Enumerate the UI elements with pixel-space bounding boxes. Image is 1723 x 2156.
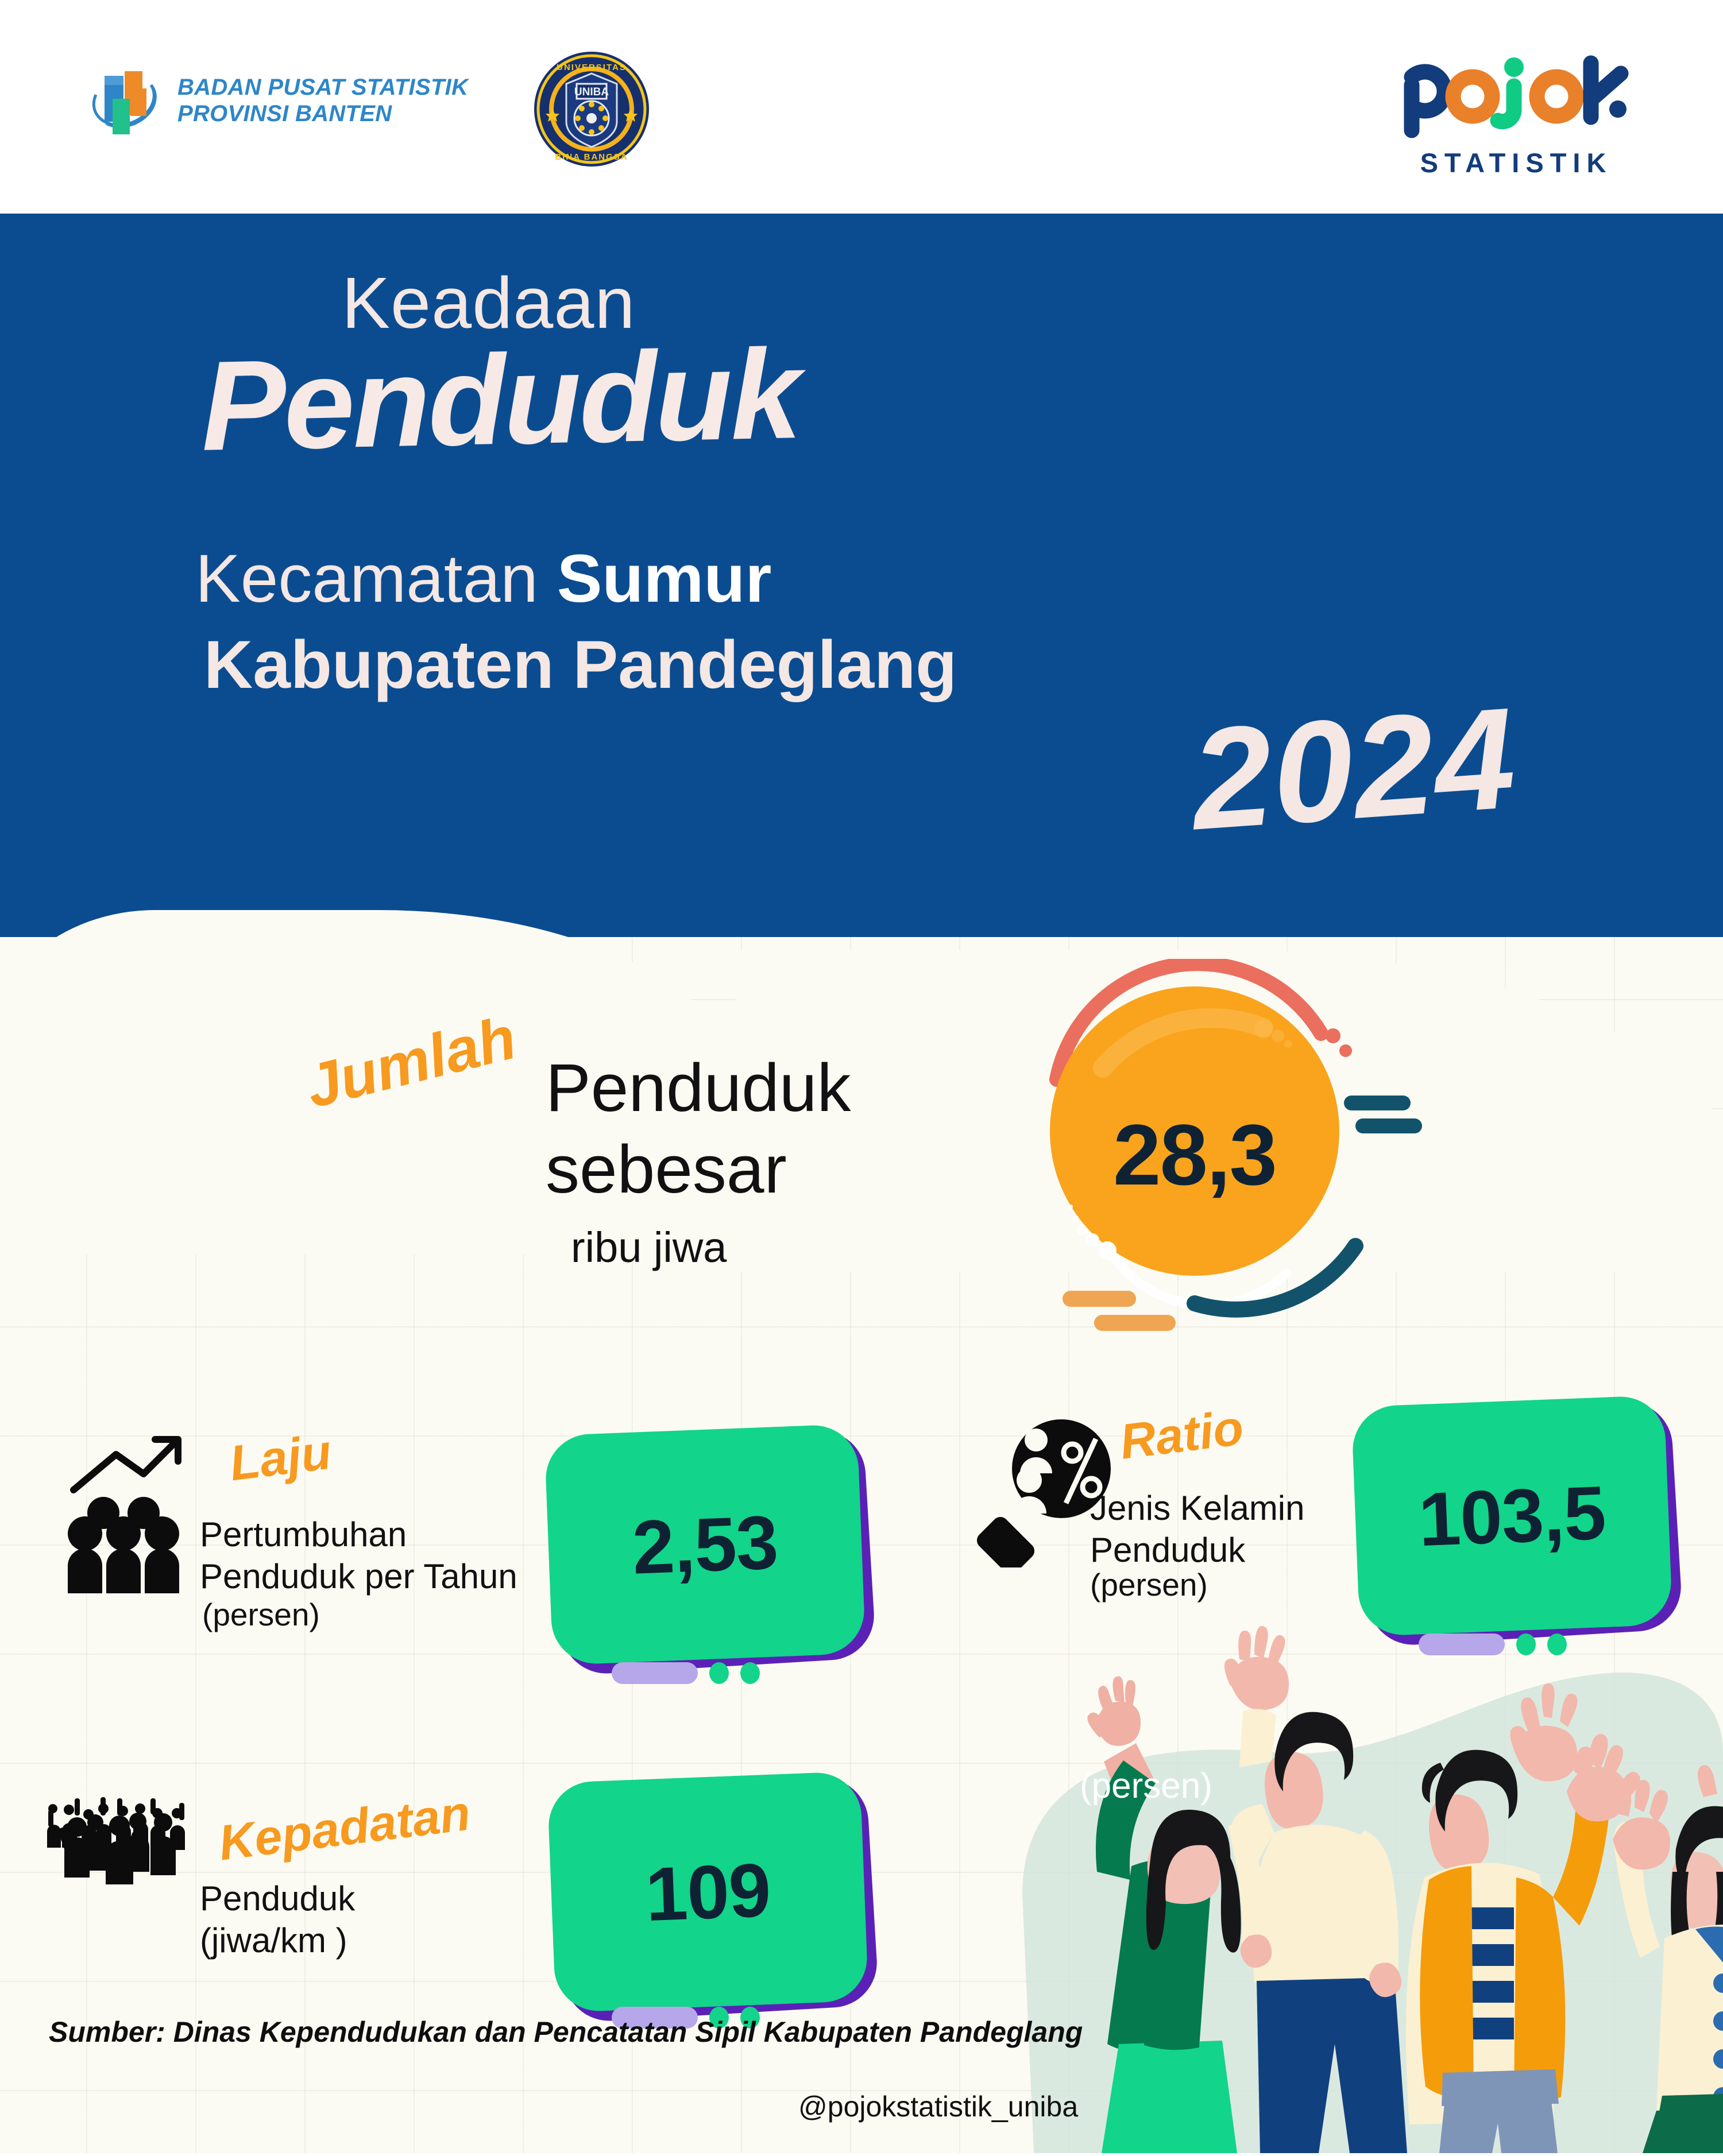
stat-ratio-desc-line2: Penduduk: [1090, 1529, 1305, 1571]
ratio-unit-overlay: (persen): [1080, 1766, 1212, 1806]
pojok-sub-wordmark: STATISTIK: [1401, 147, 1631, 179]
stat-laju-desc: Pertumbuhan Penduduk per Tahun: [200, 1514, 517, 1597]
stat-laju-desc-line2: Penduduk per Tahun: [200, 1555, 517, 1597]
crowd-icon: [36, 1797, 214, 1926]
bps-mark-icon: [89, 63, 163, 138]
bps-logo-text: BADAN PUSAT STATISTIK PROVINSI BANTEN: [177, 74, 468, 127]
uniba-seal-icon: UNIBA UNIVERSITAS BINA BANGSA: [533, 51, 651, 168]
deco-dot: [709, 1662, 729, 1684]
pojok-statistik-logo: STATISTIK: [1401, 53, 1631, 179]
social-handle: @pojokstatistik_uniba: [798, 2090, 1078, 2123]
total-unit: ribu jiwa: [571, 1223, 851, 1272]
total-line-2: sebesar: [546, 1129, 851, 1211]
stat-ratio-value: 103,5: [1417, 1469, 1607, 1562]
banner-subtitle-prefix: Kecamatan: [195, 541, 557, 617]
stat-kepadatan-desc-line1: Penduduk: [200, 1878, 355, 1919]
stat-laju-unit: (persen): [202, 1596, 320, 1633]
banner-subtitle-district: Sumur: [557, 541, 772, 617]
source-note: Sumber: Dinas Kependudukan dan Pencatata…: [49, 2015, 1083, 2049]
stat-kepadatan-value: 109: [644, 1846, 772, 1937]
stat-kepadatan-card-face: 109: [547, 1771, 869, 2013]
deco-bar: [612, 1662, 698, 1684]
deco-dot: [740, 1662, 760, 1684]
stat-ratio-desc-line1: Jenis Kelamin: [1090, 1487, 1305, 1529]
stat-laju-card: 2,53: [548, 1430, 861, 1659]
stat-ratio-unit: (persen): [1090, 1566, 1208, 1603]
pojok-wordmark-svg: [1401, 53, 1631, 139]
banner-subtitle: Kecamatan Sumur: [195, 540, 771, 618]
bps-mark-svg: [89, 63, 163, 138]
bps-logo: BADAN PUSAT STATISTIK PROVINSI BANTEN: [89, 63, 468, 138]
bps-line-2: PROVINSI BANTEN: [177, 100, 468, 127]
total-value: 28,3: [1034, 1105, 1355, 1205]
stat-laju-deco: [612, 1662, 760, 1684]
bps-line-1: BADAN PUSAT STATISTIK: [177, 74, 468, 100]
svg-text:UNIBA: UNIBA: [574, 86, 609, 98]
stat-kepadatan-desc: Penduduk (jiwa/km ): [200, 1878, 355, 1961]
logo-header: BADAN PUSAT STATISTIK PROVINSI BANTEN UN…: [0, 0, 1723, 214]
svg-text:UNIVERSITAS: UNIVERSITAS: [557, 63, 627, 72]
total-description: Penduduk sebesar ribu jiwa: [546, 1048, 851, 1272]
stat-ratio-card-face: 103,5: [1351, 1395, 1673, 1637]
pojok-wordmark-icon: [1401, 53, 1631, 139]
banner-regency: Kabupaten Pandeglang: [204, 626, 957, 704]
stat-laju-value: 2,53: [631, 1499, 779, 1591]
stat-ratio-card: 103,5: [1355, 1401, 1668, 1631]
waving-people-svg: [953, 1625, 1723, 2153]
page-title: Penduduk: [199, 321, 800, 480]
growth-people-svg: [63, 1427, 218, 1593]
stat-kepadatan-card: 109: [551, 1777, 864, 2007]
waving-people-illustration: [953, 1625, 1723, 2153]
stat-ratio-desc: Jenis Kelamin Penduduk: [1090, 1487, 1305, 1571]
banner-year: 2024: [1187, 675, 1521, 862]
uniba-logo: UNIBA UNIVERSITAS BINA BANGSA: [533, 51, 651, 168]
growth-chart-people-icon: [63, 1427, 218, 1596]
stat-laju-card-face: 2,53: [544, 1424, 866, 1666]
stat-laju-desc-line1: Pertumbuhan: [200, 1514, 517, 1555]
total-line-1: Penduduk: [546, 1048, 851, 1129]
total-value-circle: 28,3: [1034, 959, 1447, 1338]
svg-text:BINA BANGSA: BINA BANGSA: [555, 152, 628, 162]
stat-kepadatan-desc-line2: (jiwa/km ): [200, 1919, 355, 1961]
crowd-svg: [36, 1797, 214, 1923]
